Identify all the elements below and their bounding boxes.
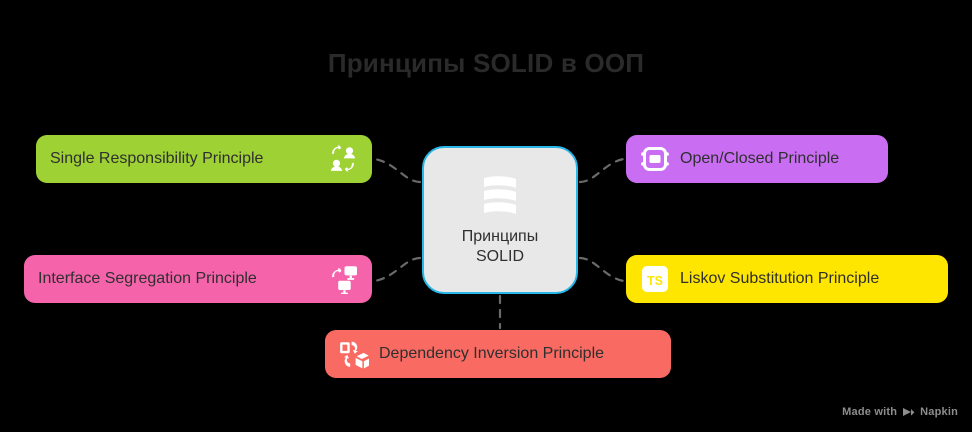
node-label: Single Responsibility Principle [50, 150, 318, 168]
typescript-badge-icon: TS [640, 264, 670, 294]
node-dependency-inversion-principle[interactable]: Dependency Inversion Principle [325, 330, 671, 378]
connector-center-to-srp [374, 159, 420, 182]
node-label: Dependency Inversion Principle [379, 345, 604, 363]
frame-brackets-icon [640, 144, 670, 174]
diagram-canvas: Принципы SOLID в ООП Принципы SOLID Sing… [0, 0, 972, 432]
people-swap-icon [328, 144, 358, 174]
node-liskov-substitution-principle[interactable]: TS Liskov Substitution Principle [626, 255, 948, 303]
stacked-layers-icon [478, 173, 522, 219]
monitors-network-icon [328, 264, 358, 294]
connector-center-to-ocp [580, 159, 624, 182]
node-open-closed-principle[interactable]: Open/Closed Principle [626, 135, 888, 183]
center-label-line1: Принципы [462, 228, 538, 245]
typescript-badge-text: TS [647, 274, 663, 288]
center-node[interactable]: Принципы SOLID [422, 146, 578, 294]
watermark: Made with Napkin [842, 406, 958, 418]
swap-document-box-icon [339, 339, 369, 369]
center-label-line2: SOLID [476, 248, 524, 265]
page-title: Принципы SOLID в ООП [0, 48, 972, 79]
connector-center-to-lsp [580, 258, 624, 281]
napkin-logo-icon [902, 407, 915, 418]
watermark-brand: Napkin [920, 406, 958, 418]
watermark-prefix: Made with [842, 406, 897, 418]
node-interface-segregation-principle[interactable]: Interface Segregation Principle [24, 255, 372, 303]
node-label: Liskov Substitution Principle [680, 270, 879, 288]
connector-center-to-isp [374, 258, 420, 281]
node-single-responsibility-principle[interactable]: Single Responsibility Principle [36, 135, 372, 183]
node-label: Open/Closed Principle [680, 150, 839, 168]
node-label: Interface Segregation Principle [38, 270, 318, 288]
